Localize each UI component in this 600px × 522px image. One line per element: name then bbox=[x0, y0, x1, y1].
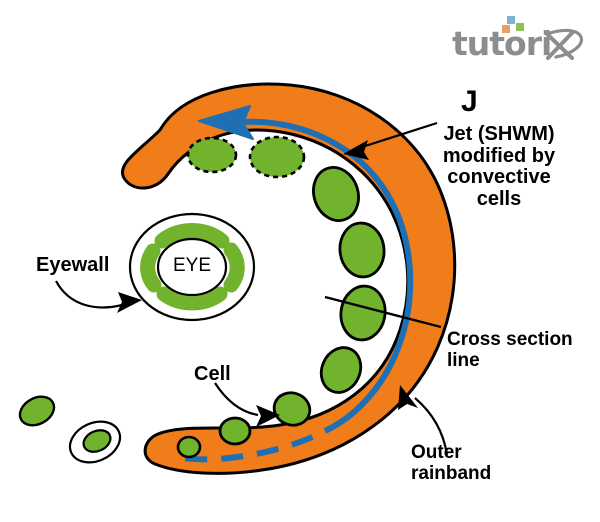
eye-label: EYE bbox=[173, 256, 211, 277]
logo-swoosh-icon bbox=[452, 14, 588, 60]
detached-cell-1 bbox=[15, 391, 59, 431]
logo-orange-square bbox=[502, 25, 510, 33]
jet-label: Jet (SHWM) modified by convective cells bbox=[415, 124, 583, 210]
eyewall-leader-line bbox=[56, 281, 122, 307]
cell-solid-3 bbox=[337, 283, 388, 343]
tutorix-logo[interactable]: tutori bbox=[452, 14, 588, 60]
cell-dashed-1 bbox=[188, 138, 236, 172]
cell-solid-2 bbox=[337, 221, 386, 279]
detached-cells bbox=[15, 391, 126, 470]
cell-solid-1 bbox=[307, 162, 366, 227]
cell-solid-7 bbox=[178, 437, 200, 457]
logo-green-square bbox=[516, 23, 524, 31]
outer-rainband-label: Outer rainband bbox=[411, 443, 561, 484]
convective-cells-dashed bbox=[188, 137, 304, 177]
cross-section-label: Cross section line bbox=[447, 330, 592, 371]
jet-marker-label: J bbox=[461, 86, 478, 118]
cell-dashed-2 bbox=[250, 137, 304, 177]
cell-label: Cell bbox=[194, 364, 231, 386]
cyclone-diagram-figure: J Jet (SHWM) modified by convective cell… bbox=[0, 0, 600, 522]
eyewall-segment-left bbox=[148, 251, 154, 285]
eyewall-label: Eyewall bbox=[36, 255, 109, 277]
cell-solid-6 bbox=[220, 418, 250, 444]
logo-blue-square bbox=[507, 16, 515, 24]
eyewall-segment-right bbox=[231, 250, 237, 285]
cell-leader-line bbox=[215, 383, 258, 415]
